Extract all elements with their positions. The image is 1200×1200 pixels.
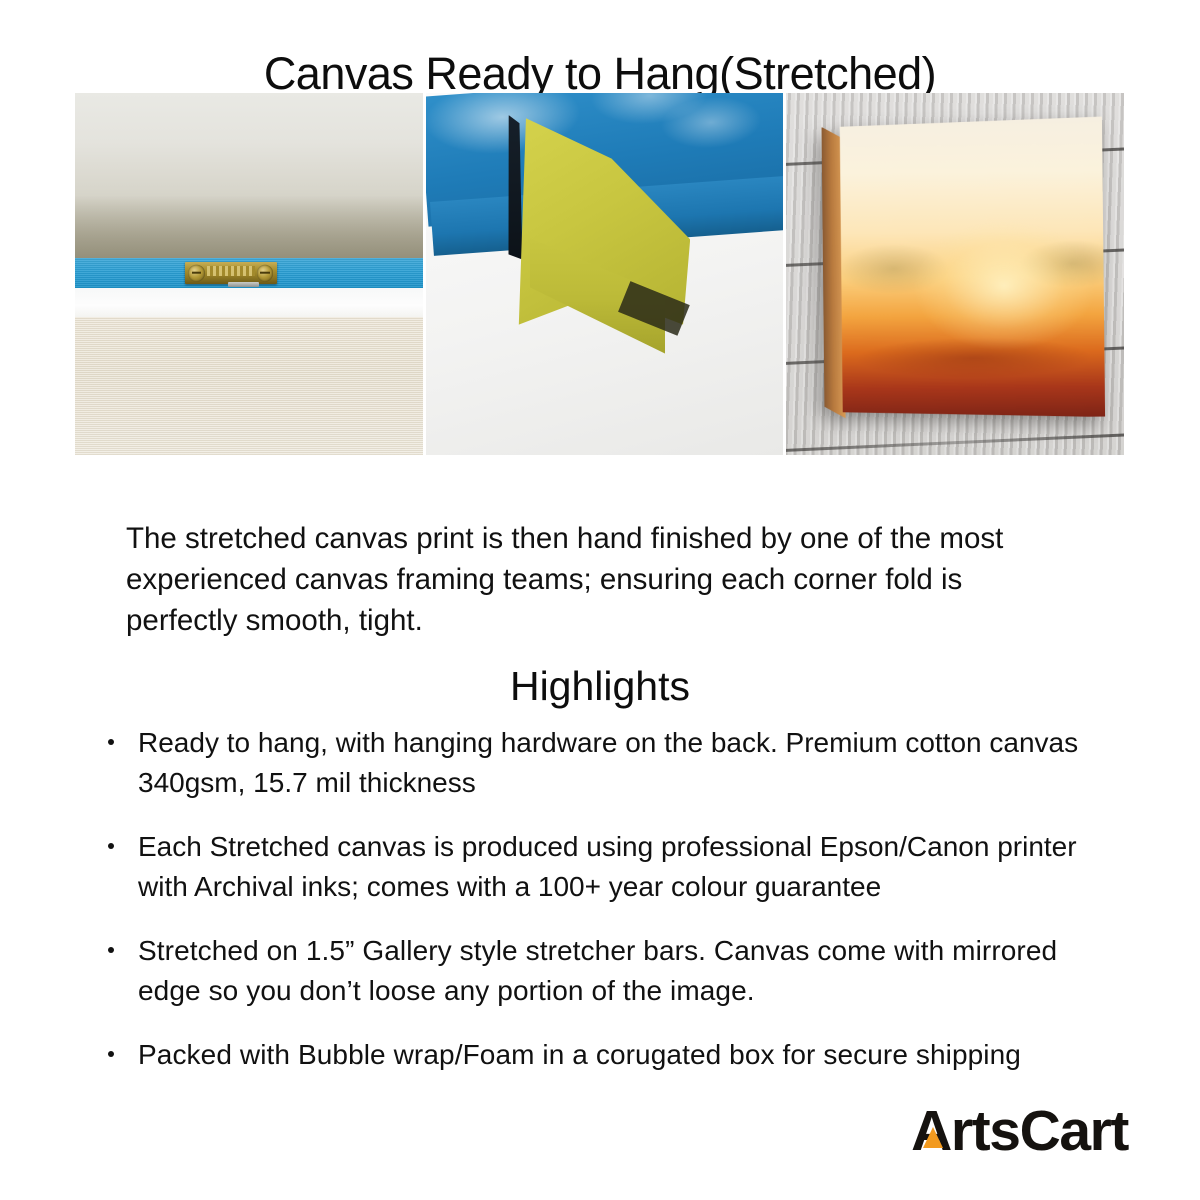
list-item-text: Packed with Bubble wrap/Foam in a coruga… — [138, 1039, 1021, 1070]
canvas-white-band — [75, 288, 423, 317]
bullet-dot-icon — [108, 843, 114, 849]
intro-paragraph: The stretched canvas print is then hand … — [126, 518, 1070, 641]
product-photo-strip — [75, 93, 1124, 455]
bullet-dot-icon — [108, 947, 114, 953]
bullet-dot-icon — [108, 1051, 114, 1057]
bracket-screw-left — [188, 265, 205, 282]
bullet-dot-icon — [108, 739, 114, 745]
sunset-landscape-print — [840, 117, 1105, 420]
highlights-list: Ready to hang, with hanging hardware on … — [106, 723, 1116, 1099]
artscart-logo: ArtsCart — [911, 1100, 1128, 1162]
canvas-hung-on-wall-photo — [786, 93, 1124, 455]
bracket-teeth — [207, 266, 255, 277]
list-item-text: Each Stretched canvas is produced using … — [138, 831, 1077, 902]
highlights-heading: Highlights — [0, 662, 1200, 710]
wall-hook — [228, 282, 259, 286]
sawtooth-hanger-bracket — [185, 262, 277, 284]
hung-canvas — [822, 117, 1106, 420]
canvas-corner-fold-photo — [426, 93, 783, 455]
list-item: Packed with Bubble wrap/Foam in a coruga… — [106, 1035, 1116, 1075]
logo-wordmark: ArtsCart — [911, 1100, 1128, 1162]
logo-triangle-icon — [923, 1127, 943, 1148]
canvas-back-hanging-hardware-photo — [75, 93, 423, 455]
list-item: Stretched on 1.5” Gallery style stretche… — [106, 931, 1116, 1011]
list-item: Ready to hang, with hanging hardware on … — [106, 723, 1116, 803]
wall-backdrop — [75, 93, 423, 258]
bracket-screw-right — [257, 265, 274, 282]
logo-text: ArtsCart — [911, 1099, 1128, 1163]
list-item: Each Stretched canvas is produced using … — [106, 827, 1116, 907]
canvas-cotton-surface — [75, 317, 423, 455]
list-item-text: Ready to hang, with hanging hardware on … — [138, 727, 1078, 798]
list-item-text: Stretched on 1.5” Gallery style stretche… — [138, 935, 1057, 1006]
